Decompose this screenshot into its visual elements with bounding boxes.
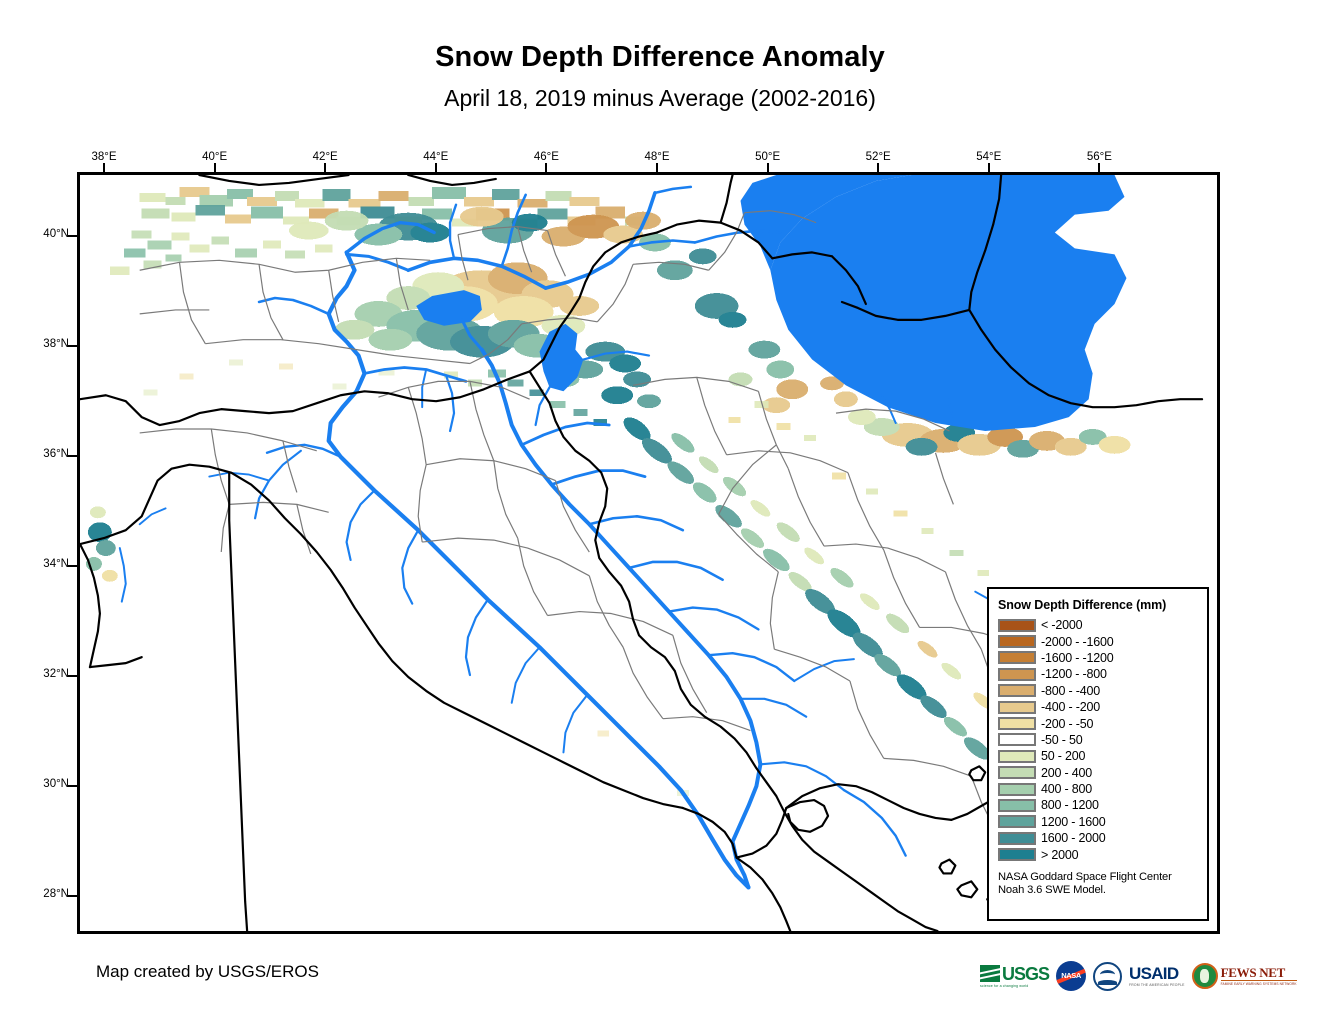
legend-swatch [998, 733, 1036, 746]
legend-label: 200 - 400 [1041, 766, 1092, 780]
noaa-wave-icon [1098, 980, 1117, 985]
legend-label: > 2000 [1041, 848, 1078, 862]
usgs-wave-icon [980, 965, 1000, 982]
legend-label: -1600 - -1200 [1041, 651, 1113, 665]
legend-swatch [998, 783, 1036, 796]
legend-source-line1: NASA Goddard Space Flight Center [998, 871, 1199, 885]
legend-label: 400 - 800 [1041, 782, 1092, 796]
fews-wordmark: FEWS NET [1221, 966, 1297, 979]
legend-swatch [998, 815, 1036, 828]
legend-swatch [998, 848, 1036, 861]
legend-source-note: NASA Goddard Space Flight Center Noah 3.… [998, 871, 1199, 898]
usgs-logo[interactable]: USGS science for a changing world [980, 959, 1049, 993]
legend-row: < -2000 [998, 617, 1199, 633]
longitude-tick-label: 46°E [516, 151, 576, 163]
legend-source-line2: Noah 3.6 SWE Model. [998, 884, 1199, 898]
legend-label: -2000 - -1600 [1041, 635, 1113, 649]
usaid-wordmark: USAID [1129, 965, 1178, 982]
legend-swatch [998, 750, 1036, 763]
latitude-tick-label: 34°N [27, 558, 69, 570]
legend-swatch [998, 635, 1036, 648]
legend-swatch [998, 619, 1036, 632]
latitude-tick-label: 40°N [27, 228, 69, 240]
legend-title: Snow Depth Difference (mm) [998, 598, 1199, 612]
legend-label: -50 - 50 [1041, 733, 1082, 747]
nasa-logo[interactable]: NASA [1056, 961, 1086, 991]
fews-net-logo[interactable]: FEWS NET FAMINE EARLY WARNING SYSTEMS NE… [1192, 959, 1297, 993]
legend-label: 1200 - 1600 [1041, 815, 1106, 829]
longitude-tick-label: 48°E [627, 151, 687, 163]
usgs-tagline: science for a changing world [980, 984, 1028, 988]
legend-swatch [998, 651, 1036, 664]
legend-row: -200 - -50 [998, 715, 1199, 731]
legend-label: -1200 - -800 [1041, 667, 1107, 681]
legend-swatch [998, 799, 1036, 812]
legend-row: -800 - -400 [998, 683, 1199, 699]
latitude-tick-label: 28°N [27, 888, 69, 900]
legend-row: 1600 - 2000 [998, 830, 1199, 846]
noaa-logo[interactable] [1093, 962, 1122, 991]
latitude-tick-label: 36°N [27, 448, 69, 460]
legend-label: -800 - -400 [1041, 684, 1100, 698]
nasa-wordmark: NASA [1056, 971, 1086, 980]
legend-label: -200 - -50 [1041, 717, 1093, 731]
legend-row: -2000 - -1600 [998, 633, 1199, 649]
latitude-tick-label: 32°N [27, 668, 69, 680]
map-credit: Map created by USGS/EROS [96, 962, 319, 982]
legend-swatch [998, 717, 1036, 730]
logo-bar: USGS science for a changing world NASA U… [980, 958, 1297, 994]
legend-row: -1600 - -1200 [998, 650, 1199, 666]
usaid-logo[interactable]: USAID FROM THE AMERICAN PEOPLE [1129, 959, 1185, 993]
legend-swatch [998, 766, 1036, 779]
latitude-tick-label: 38°N [27, 338, 69, 350]
noaa-bird-icon [1100, 970, 1115, 979]
legend-row: > 2000 [998, 846, 1199, 862]
fews-divider [1221, 980, 1297, 982]
longitude-tick-label: 42°E [295, 151, 355, 163]
legend-swatch [998, 668, 1036, 681]
legend-swatch [998, 684, 1036, 697]
legend-row: -1200 - -800 [998, 666, 1199, 682]
longitude-tick-label: 54°E [959, 151, 1019, 163]
legend-label: -400 - -200 [1041, 700, 1100, 714]
fews-tagline: FAMINE EARLY WARNING SYSTEMS NETWORK [1221, 982, 1297, 986]
legend-label: 800 - 1200 [1041, 798, 1099, 812]
usaid-tagline: FROM THE AMERICAN PEOPLE [1129, 983, 1185, 987]
longitude-tick-label: 50°E [738, 151, 798, 163]
title-block: Snow Depth Difference Anomaly April 18, … [0, 40, 1320, 113]
usgs-wordmark: USGS [1002, 965, 1049, 983]
legend-row: -50 - 50 [998, 732, 1199, 748]
latitude-tick-label: 30°N [27, 778, 69, 790]
legend-swatch [998, 701, 1036, 714]
legend-row: -400 - -200 [998, 699, 1199, 715]
legend-swatch [998, 832, 1036, 845]
longitude-tick-label: 44°E [406, 151, 466, 163]
legend-label: 50 - 200 [1041, 749, 1085, 763]
page-subtitle: April 18, 2019 minus Average (2002-2016) [0, 83, 1320, 113]
legend-row: 50 - 200 [998, 748, 1199, 764]
legend-row: 400 - 800 [998, 781, 1199, 797]
longitude-tick-label: 52°E [848, 151, 908, 163]
legend-label: < -2000 [1041, 618, 1082, 632]
globe-icon [1192, 963, 1218, 989]
page-title: Snow Depth Difference Anomaly [0, 40, 1320, 74]
legend-row: 800 - 1200 [998, 797, 1199, 813]
legend-label: 1600 - 2000 [1041, 831, 1106, 845]
legend-class-list: < -2000-2000 - -1600-1600 - -1200-1200 -… [998, 617, 1199, 863]
longitude-tick-label: 56°E [1069, 151, 1129, 163]
legend-row: 1200 - 1600 [998, 814, 1199, 830]
longitude-tick-label: 38°E [74, 151, 134, 163]
longitude-tick-label: 40°E [185, 151, 245, 163]
legend-row: 200 - 400 [998, 765, 1199, 781]
map-legend[interactable]: Snow Depth Difference (mm) < -2000-2000 … [987, 587, 1209, 921]
